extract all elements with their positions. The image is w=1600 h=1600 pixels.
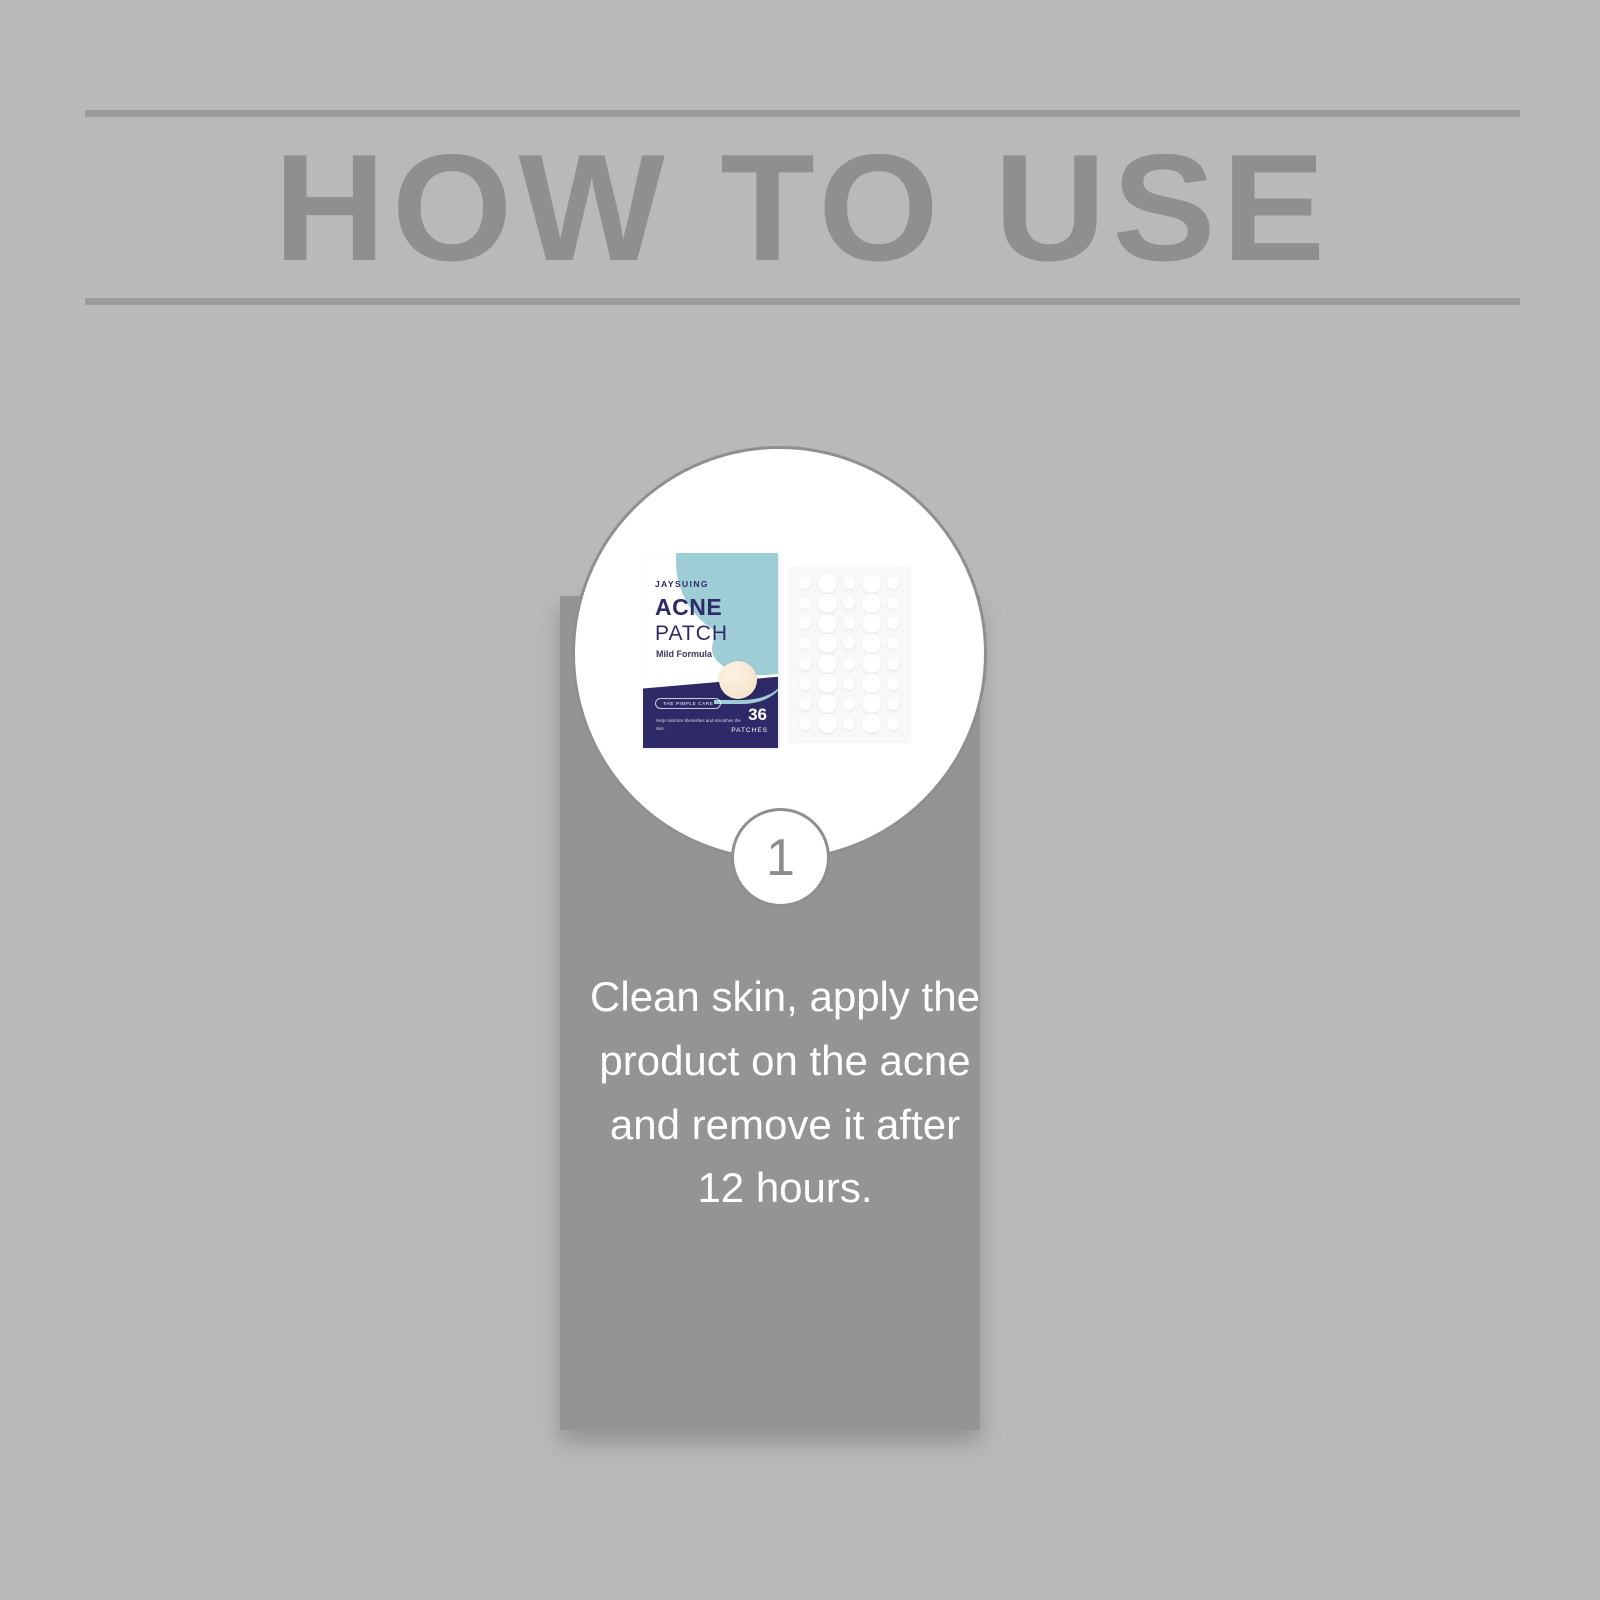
patch-dot (887, 698, 899, 710)
patch-dot (799, 577, 811, 589)
step-number: 1 (766, 832, 795, 884)
poster-canvas: HOW TO USE JAYSUING ACNE PATCH Mild Form… (0, 0, 1600, 1600)
patch-dot (862, 654, 881, 673)
patch-count: 36 (748, 706, 767, 723)
patch-dot (843, 678, 855, 690)
patch-dot (887, 678, 899, 690)
product-tagline: THE PIMPLE CARE (655, 698, 721, 709)
patch-dot (887, 577, 899, 589)
patch-dot (887, 658, 899, 670)
patch-dot (818, 594, 837, 613)
patch-dot (843, 658, 855, 670)
patch-dot (818, 694, 837, 713)
patch-dot (843, 637, 855, 649)
patch-dot (799, 597, 811, 609)
patch-dot (818, 574, 837, 593)
patch-dot (862, 714, 881, 733)
patch-sheet (789, 566, 909, 741)
page-title: HOW TO USE (71, 118, 1535, 298)
patch-dot (799, 617, 811, 629)
patch-dot (799, 718, 811, 730)
header-bottom-rule (85, 298, 1520, 305)
patch-dot (862, 594, 881, 613)
product-photo: JAYSUING ACNE PATCH Mild Formula THE PIM… (643, 553, 915, 748)
patch-dot (843, 617, 855, 629)
product-box: JAYSUING ACNE PATCH Mild Formula THE PIM… (643, 553, 778, 748)
patch-dot (818, 634, 837, 653)
product-name-patch: PATCH (655, 623, 728, 644)
step-number-badge: 1 (731, 808, 830, 907)
patch-dot (799, 637, 811, 649)
patch-dot (887, 718, 899, 730)
patch-dot (843, 597, 855, 609)
patch-count-label: PATCHES (731, 727, 768, 734)
patch-dot (862, 574, 881, 593)
patch-dot (862, 634, 881, 653)
patch-dot (862, 674, 881, 693)
patch-dot (843, 577, 855, 589)
patch-dot (843, 718, 855, 730)
patch-dot (799, 678, 811, 690)
header: HOW TO USE (85, 110, 1520, 305)
patch-dot (818, 614, 837, 633)
patch-dot (862, 614, 881, 633)
patch-dot (818, 654, 837, 673)
patch-dot (799, 658, 811, 670)
patch-dot (887, 597, 899, 609)
patch-dot (799, 698, 811, 710)
patch-dot (862, 694, 881, 713)
product-subtitle: Mild Formula (656, 649, 712, 659)
step-description: Clean skin, apply the product on the acn… (585, 965, 985, 1220)
patch-dot (818, 714, 837, 733)
product-name-acne: ACNE (655, 596, 722, 619)
product-brand: JAYSUING (655, 579, 709, 589)
patch-dot (887, 617, 899, 629)
header-top-rule (85, 110, 1520, 117)
patch-dot (887, 637, 899, 649)
cream-patch-icon (719, 661, 757, 699)
patch-dot (818, 674, 837, 693)
patch-dot (843, 698, 855, 710)
